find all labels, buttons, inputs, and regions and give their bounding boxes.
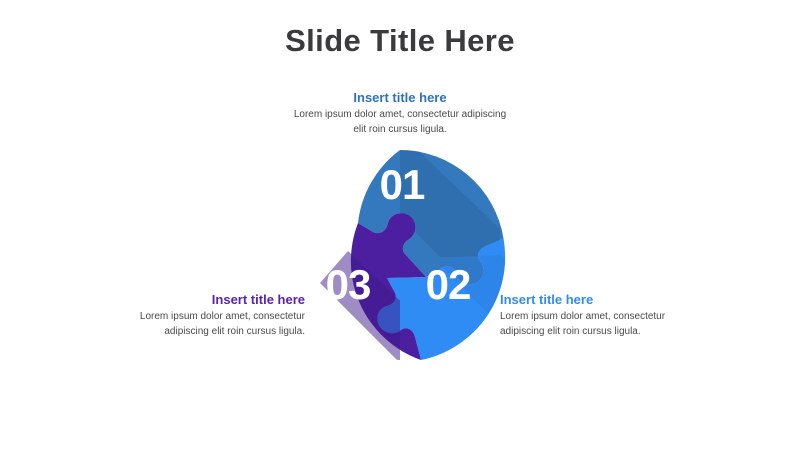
number-label-01: 01: [380, 161, 425, 208]
callout-left: Insert title here Lorem ipsum dolor amet…: [105, 292, 305, 339]
callout-right-title: Insert title here: [500, 292, 705, 308]
callout-top-title: Insert title here: [290, 90, 510, 106]
callout-top: Insert title here Lorem ipsum dolor amet…: [290, 90, 510, 137]
puzzle-circle-diagram: 01 02 03: [290, 133, 510, 363]
callout-left-body: Lorem ipsum dolor amet, consectetur adip…: [105, 310, 305, 339]
callout-right: Insert title here Lorem ipsum dolor amet…: [500, 292, 705, 339]
puzzle-number-02: 02: [426, 261, 471, 308]
number-label-03: 03: [326, 261, 371, 308]
number-label-02: 02: [426, 261, 471, 308]
slide-canvas: Slide Title Here: [0, 0, 800, 450]
puzzle-number-03: 03: [326, 261, 371, 308]
page-title: Slide Title Here: [0, 22, 800, 59]
callout-top-body: Lorem ipsum dolor amet, consectetur adip…: [290, 108, 510, 137]
puzzle-number-01: 01: [380, 161, 425, 208]
callout-right-body: Lorem ipsum dolor amet, consectetur adip…: [500, 310, 705, 339]
callout-left-title: Insert title here: [105, 292, 305, 308]
